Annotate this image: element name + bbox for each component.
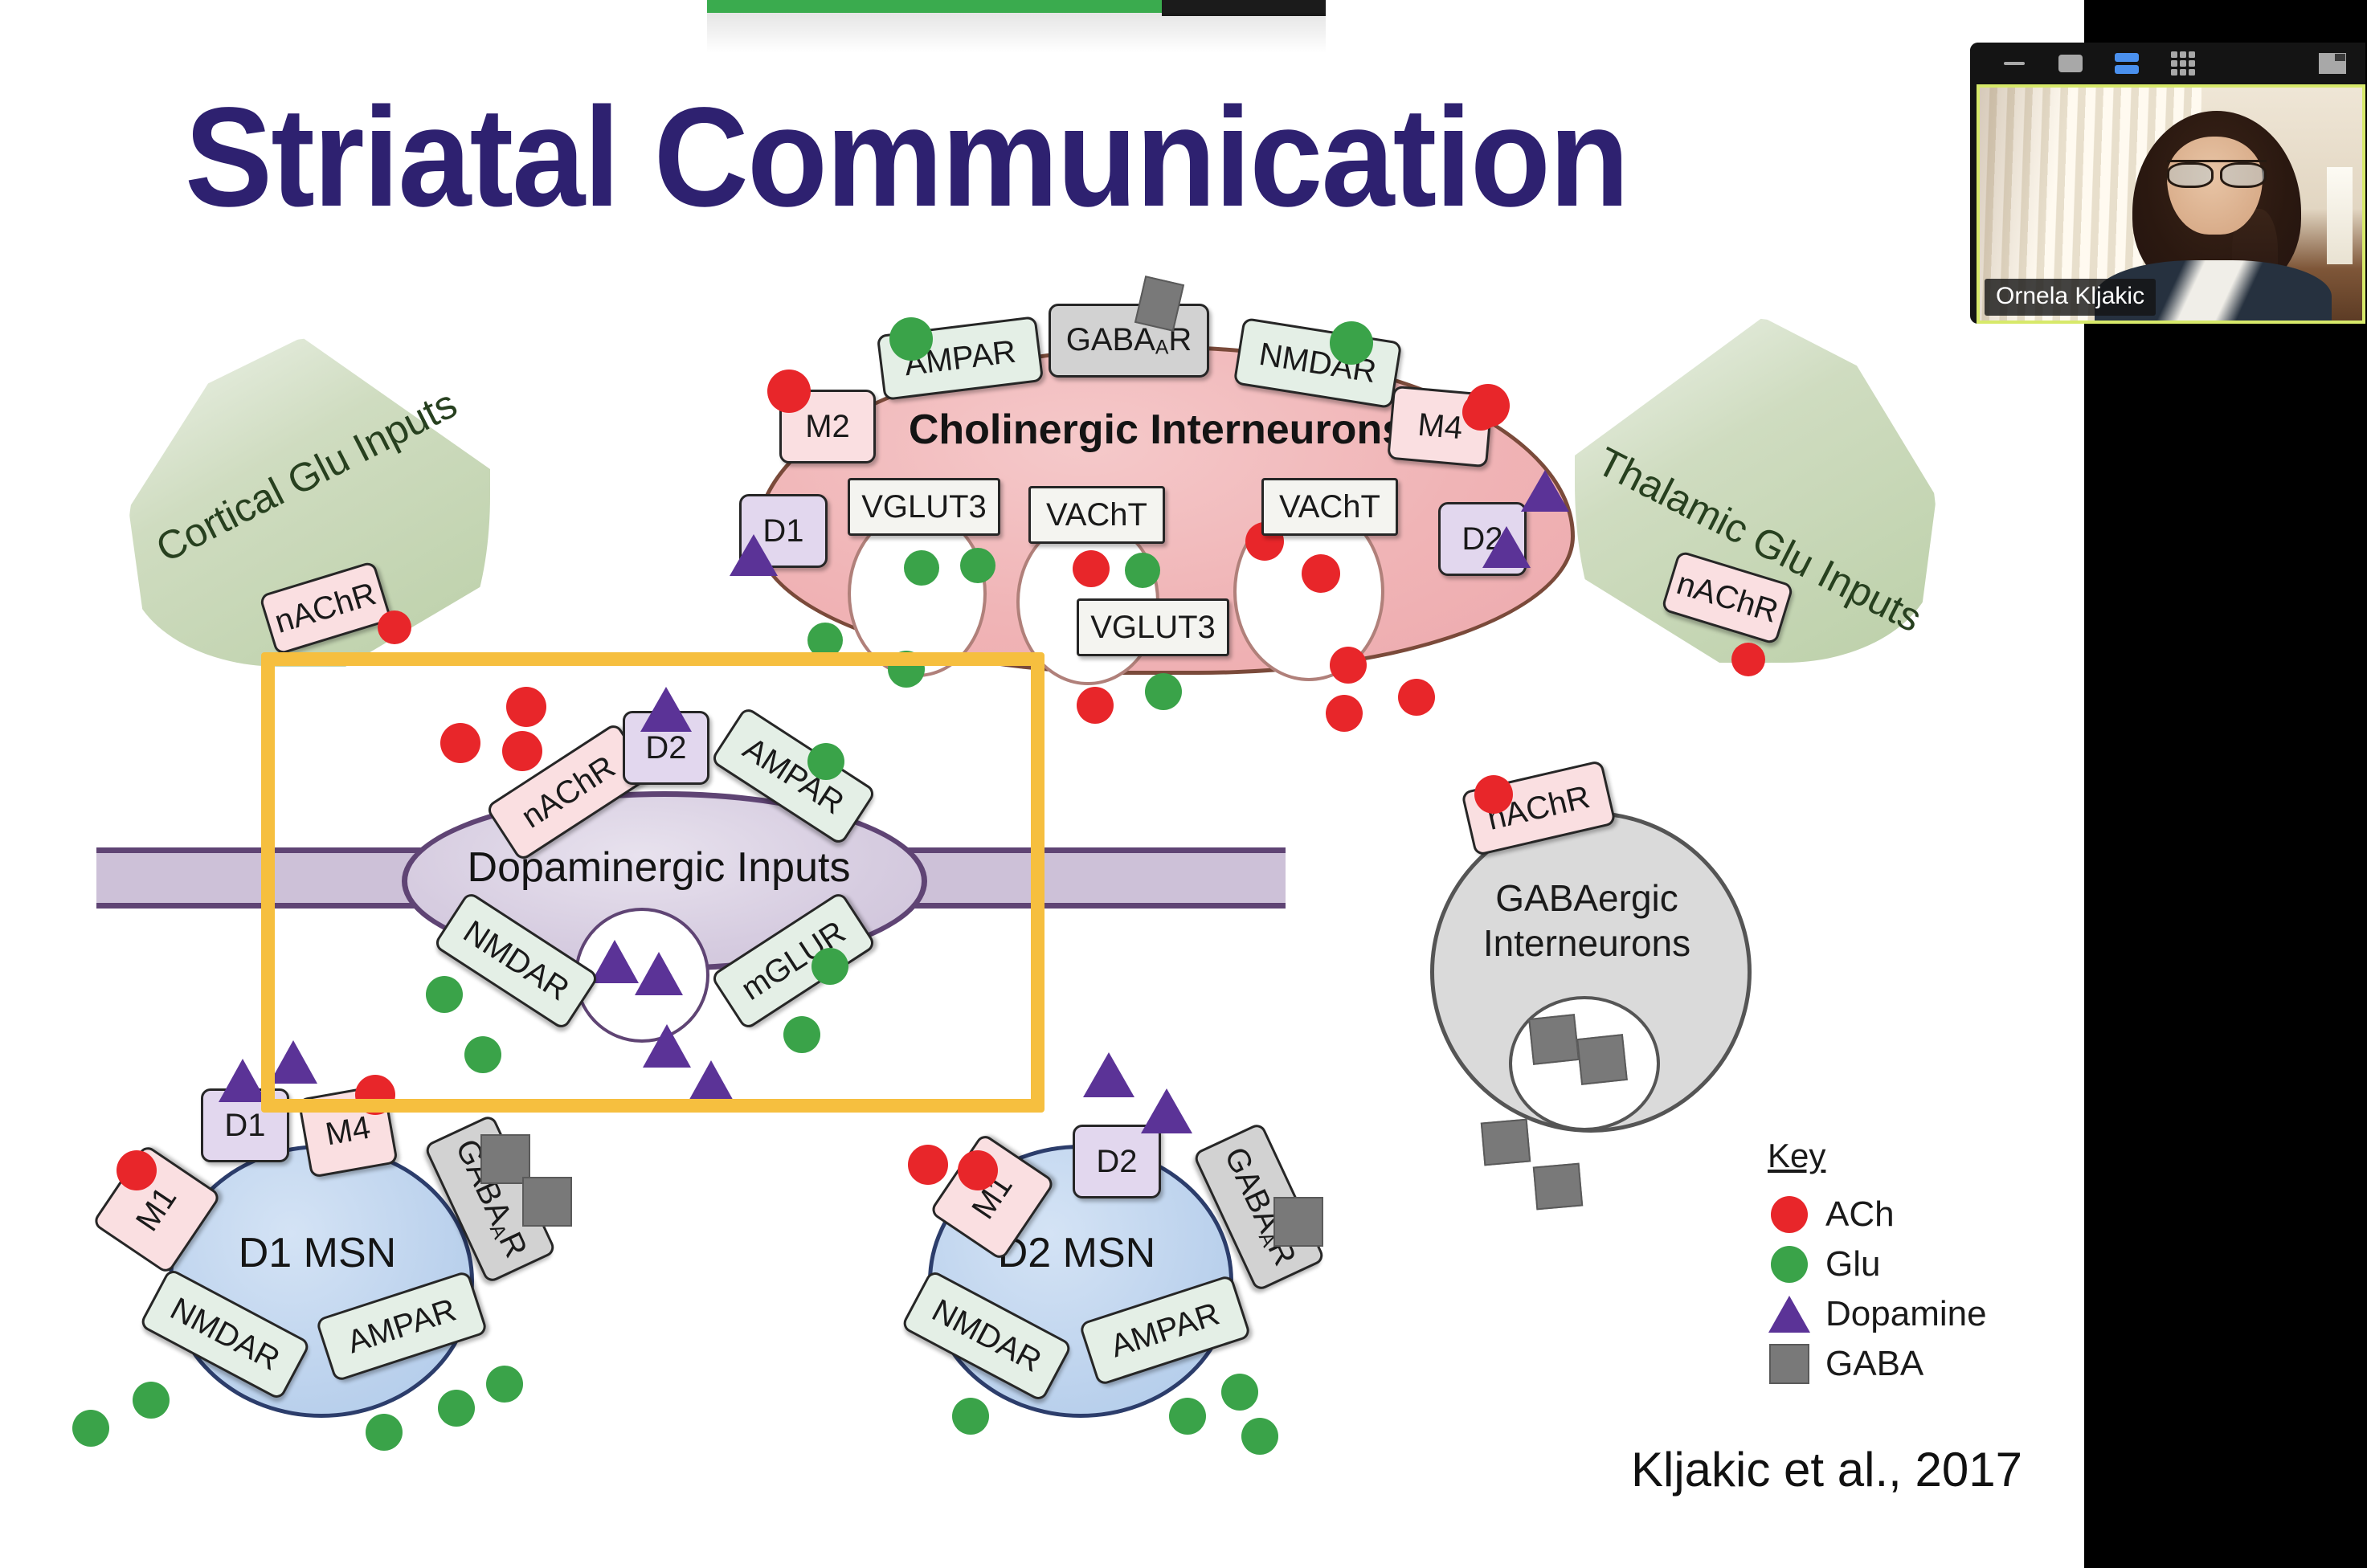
glu-particle: [1125, 553, 1160, 588]
receptor-tag-gabaa-r-chol[interactable]: GABAAR: [1049, 304, 1209, 378]
d1-msn-soma: [169, 1145, 474, 1418]
ach-particle: [117, 1150, 157, 1190]
glu-particle: [366, 1414, 403, 1451]
zoom-video-toolbar[interactable]: [1970, 43, 2365, 84]
ach-particle: [908, 1145, 948, 1185]
gaba-particle: [1481, 1119, 1531, 1166]
participant-name-label: Ornela Kljakic: [1985, 279, 2156, 316]
transporter-tag-vacht-mid[interactable]: VAChT: [1028, 486, 1165, 544]
picture-in-picture-icon[interactable]: [2319, 53, 2346, 74]
gaba-particle: [1576, 1034, 1628, 1085]
gallery-view-icon[interactable]: [2155, 51, 2211, 76]
key-item-dopamine: Dopamine: [1768, 1289, 2033, 1339]
participant-video-tile[interactable]: Ornela Kljakic: [1977, 84, 2365, 324]
zoom-toolbar-shadow: [707, 13, 1326, 53]
citation: Kljakic et al., 2017: [1631, 1442, 2022, 1497]
glu-particle: [904, 550, 939, 586]
ach-particle: [1474, 775, 1513, 814]
transporter-tag-vglut3-bottom[interactable]: VGLUT3: [1077, 598, 1229, 656]
glu-particle: [72, 1410, 109, 1447]
ach-particle: [1398, 679, 1435, 716]
key-item-ach: ACh: [1768, 1190, 2033, 1239]
dopamine-particle: [1521, 470, 1569, 512]
gabaergic-interneuron-label: GABAergic Interneurons: [1438, 876, 1735, 966]
speaker-view-icon[interactable]: [2099, 52, 2155, 75]
zoom-video-window[interactable]: Ornela Kljakic: [1970, 43, 2365, 324]
dopamine-swatch-icon: [1768, 1296, 1811, 1333]
glu-particle: [960, 548, 995, 583]
page-title: Striatal Communication: [185, 76, 1754, 239]
glasses-left-lens: [2167, 162, 2214, 188]
maximize-icon[interactable]: [2042, 55, 2099, 72]
receptor-tag-d2-d2msn[interactable]: D2: [1073, 1125, 1161, 1198]
dopamine-particle: [730, 534, 778, 576]
glu-particle: [889, 317, 933, 361]
key-label: Glu: [1825, 1244, 1880, 1284]
glu-particle: [1241, 1418, 1278, 1455]
ach-particle: [1462, 394, 1499, 431]
ach-particle: [1326, 695, 1363, 732]
gaba-swatch-icon: [1768, 1344, 1811, 1384]
key-item-gaba: GABA: [1768, 1339, 2033, 1389]
glu-particle: [1169, 1398, 1206, 1435]
glu-particle: [1221, 1374, 1258, 1411]
glu-particle: [133, 1382, 170, 1419]
dopamine-particle: [1482, 526, 1531, 568]
glu-particle: [1330, 321, 1373, 365]
ach-swatch-icon: [1768, 1196, 1811, 1233]
key-legend: Key ACh Glu Dopamine GABA: [1768, 1137, 2033, 1389]
transporter-tag-vglut3-left[interactable]: VGLUT3: [848, 478, 1000, 536]
key-title: Key: [1768, 1137, 2033, 1175]
ach-particle: [1731, 643, 1765, 676]
gaba-particle: [1533, 1163, 1583, 1211]
glasses-icon: [2167, 160, 2267, 183]
key-label: GABA: [1825, 1344, 1923, 1384]
cholinergic-interneuron-label: Cholinergic Interneurons: [876, 406, 1438, 454]
glu-particle: [1145, 673, 1182, 710]
ach-particle: [378, 610, 411, 644]
ach-particle: [1073, 550, 1110, 587]
gaba-particle: [1528, 1014, 1580, 1065]
ach-particle: [958, 1150, 998, 1190]
minimize-icon[interactable]: [1986, 60, 2042, 67]
dopamine-particle: [219, 1059, 267, 1102]
key-label: ACh: [1825, 1194, 1895, 1235]
key-label: Dopamine: [1825, 1294, 1987, 1334]
ach-particle: [767, 370, 811, 413]
glasses-right-lens: [2220, 162, 2267, 188]
video-background-window: [2327, 167, 2353, 265]
glu-particle: [438, 1390, 475, 1427]
glu-particle: [952, 1398, 989, 1435]
d1-msn-label: D1 MSN: [169, 1229, 466, 1277]
glu-swatch-icon: [1768, 1246, 1811, 1283]
ach-particle: [1302, 554, 1340, 593]
glu-particle: [486, 1366, 523, 1403]
slide-canvas: Striatal Communication Cortical Glu Inpu…: [0, 0, 2084, 1568]
key-item-glu: Glu: [1768, 1239, 2033, 1289]
ach-particle: [1077, 687, 1114, 724]
ach-particle: [1330, 647, 1367, 684]
gaba-particle: [522, 1177, 572, 1227]
dopamine-particle: [1083, 1052, 1134, 1097]
yellow-highlight-box: [261, 652, 1045, 1113]
transporter-tag-vacht-right[interactable]: VAChT: [1261, 478, 1398, 536]
dopamine-particle: [1141, 1088, 1192, 1133]
gaba-particle: [1273, 1197, 1323, 1247]
